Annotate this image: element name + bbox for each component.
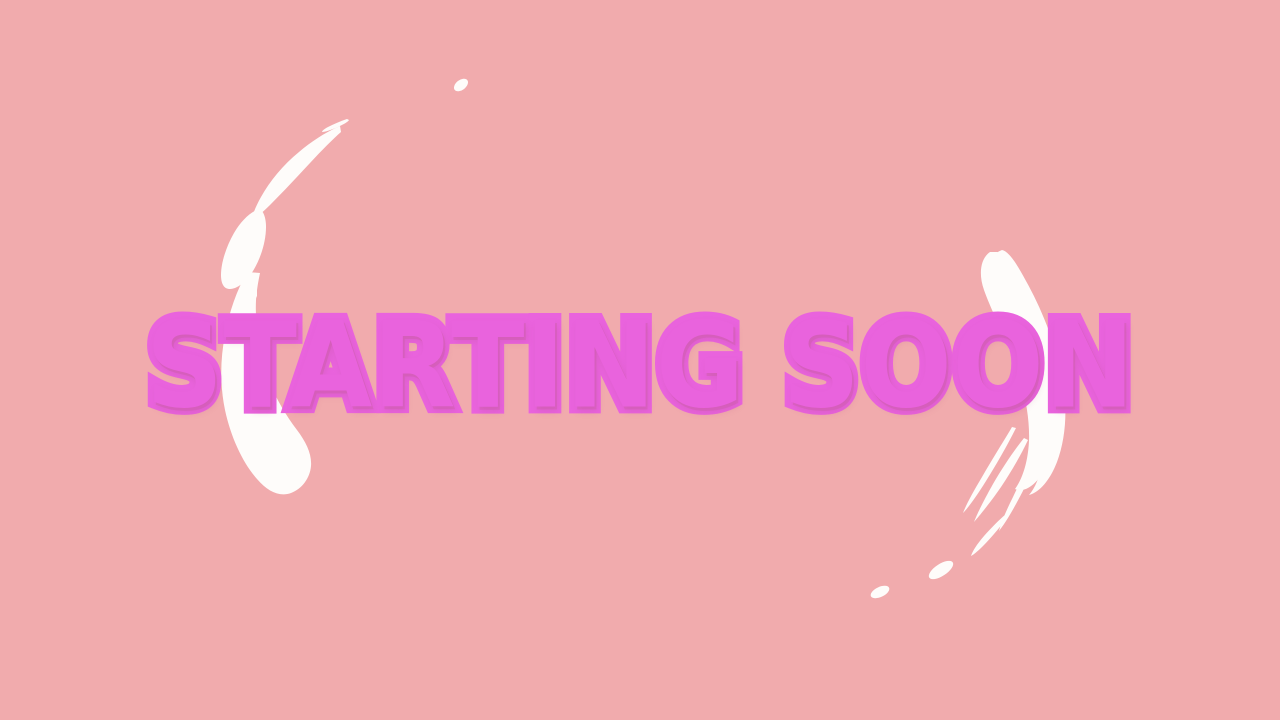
scene-root: STARTING SOON xyxy=(0,0,1280,720)
headline-container: STARTING SOON xyxy=(0,0,1280,720)
headline-text: STARTING SOON xyxy=(145,307,1134,426)
